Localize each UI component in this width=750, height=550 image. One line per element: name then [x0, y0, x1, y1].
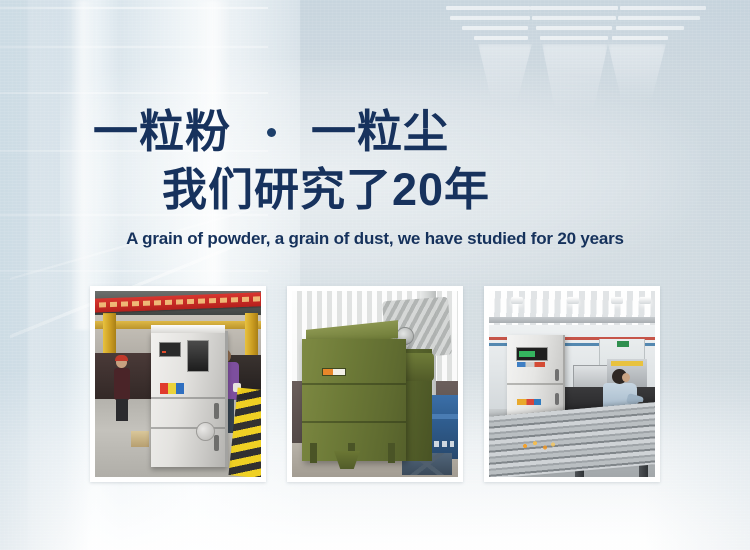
photo-3-exit-sign: [617, 341, 629, 347]
photo-workshop-cabinet-and-worker: [489, 291, 655, 477]
photo-1-dust-collector-cabinet: [151, 331, 228, 467]
headline-line-1-part-2: 一粒尘: [311, 106, 449, 157]
photo-2-unit-label: [322, 368, 346, 376]
photo-frame-1[interactable]: [90, 286, 266, 482]
headline-line-2: 我们研究了20年: [162, 164, 490, 216]
photo-3-sparks: [517, 439, 557, 453]
photo-gallery: [0, 286, 750, 486]
headline-line-1: 一粒粉 一粒尘: [93, 106, 449, 158]
photo-1-worker-left: [113, 357, 131, 421]
dot-separator-icon: [267, 128, 276, 137]
photo-olive-green-dust-collector: [292, 291, 458, 477]
promo-banner: 一粒粉 一粒尘 我们研究了20年 A grain of powder, a gr…: [0, 0, 750, 550]
photo-frame-3[interactable]: [484, 286, 660, 482]
headline-line-1-part-1: 一粒粉: [93, 106, 231, 157]
subtitle-text: A grain of powder, a grain of dust, we h…: [0, 229, 750, 249]
photo-factory-floor-dust-collector: [95, 291, 261, 477]
photo-frame-2[interactable]: [287, 286, 463, 482]
